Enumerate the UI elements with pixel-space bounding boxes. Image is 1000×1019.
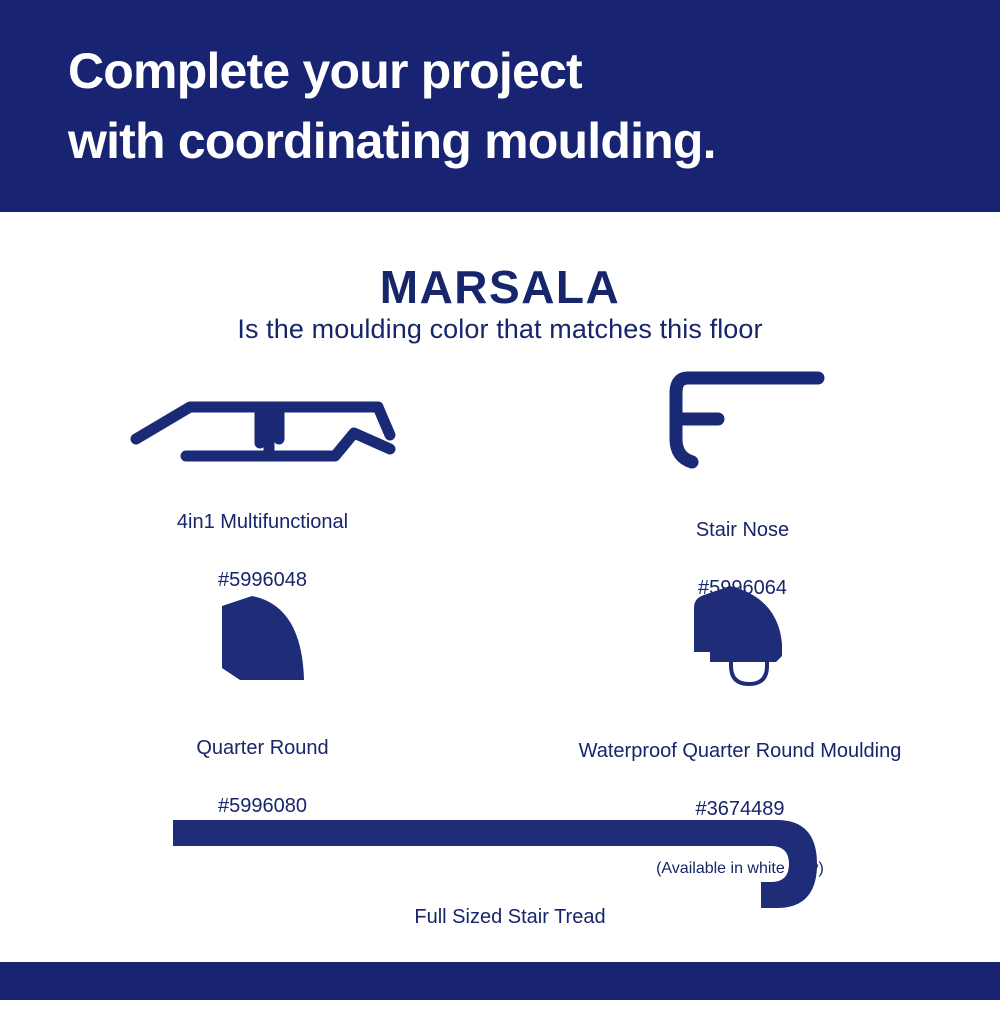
moulding-color-name: MARSALA xyxy=(0,260,1000,314)
moulding-profile-stair-nose-icon xyxy=(658,367,828,467)
moulding-profile-4in1-icon xyxy=(128,377,398,467)
hero-headline-line-2: with coordinating moulding. xyxy=(68,106,928,176)
product-4in1-multifunctional[interactable]: 4in1 Multifunctional #5996048 xyxy=(65,377,460,624)
hero-banner: Complete your project with coordinating … xyxy=(0,0,1000,212)
product-sku: #5996048 xyxy=(65,566,460,595)
moulding-color-subtitle: Is the moulding color that matches this … xyxy=(0,314,1000,345)
product-name: 4in1 Multifunctional xyxy=(65,508,460,537)
product-name: Stair Nose xyxy=(545,516,940,545)
product-name: Quarter Round xyxy=(65,734,460,763)
product-name: Waterproof Quarter Round Moulding xyxy=(535,737,945,766)
product-full-sized-stair-tread[interactable]: Full Sized Stair Tread #5996093 xyxy=(65,812,935,922)
hero-headline-line-1: Complete your project xyxy=(68,36,928,106)
product-name: Full Sized Stair Tread xyxy=(175,903,845,932)
footer-band xyxy=(0,962,1000,1000)
moulding-profile-quarter-round-icon xyxy=(218,592,308,687)
moulding-section: MARSALA Is the moulding color that match… xyxy=(0,212,1000,962)
hero-headline: Complete your project with coordinating … xyxy=(68,36,928,176)
moulding-profile-waterproof-quarter-round-icon xyxy=(690,582,790,694)
